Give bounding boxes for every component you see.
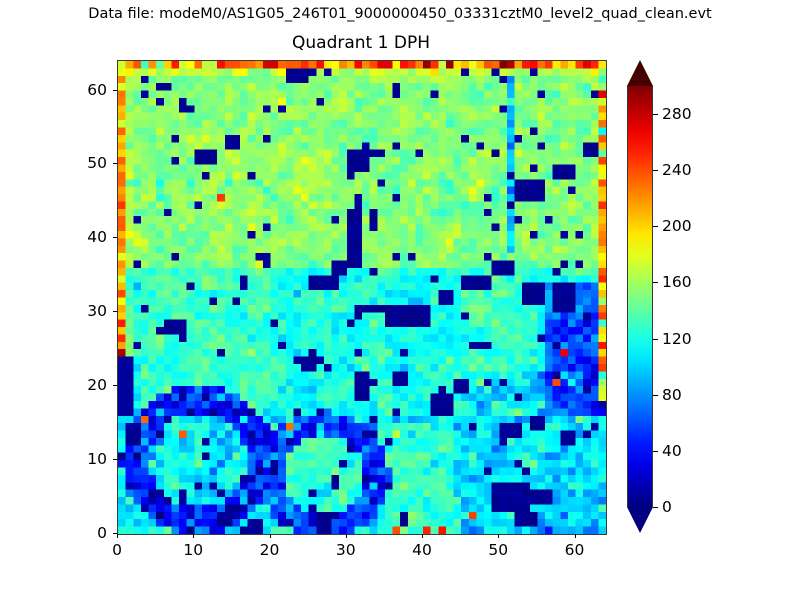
y-tick-label: 30 <box>69 302 107 320</box>
colorbar-tick-mark <box>653 339 658 340</box>
y-tick-mark <box>113 90 117 91</box>
data-file-label: Data file: modeM0/AS1G05_246T01_90000004… <box>0 6 800 22</box>
colorbar-tick-mark <box>653 170 658 171</box>
detector-pixel-map[interactable] <box>118 61 606 534</box>
colorbar-tick-label: 160 <box>662 273 692 291</box>
x-tick-mark <box>270 534 271 538</box>
colorbar-tick-label: 40 <box>662 442 682 460</box>
colorbar-tick-label: 200 <box>662 217 692 235</box>
y-tick-mark <box>113 311 117 312</box>
x-tick-mark <box>193 534 194 538</box>
colorbar-tick-mark <box>653 282 658 283</box>
x-tick-mark <box>498 534 499 538</box>
y-tick-mark <box>113 385 117 386</box>
colorbar-tick-mark <box>653 114 658 115</box>
colorbar-tick-mark <box>653 395 658 396</box>
y-tick-mark <box>113 163 117 164</box>
colorbar-extend-min-arrow-icon <box>627 507 653 533</box>
colorbar-extend-max-arrow-icon <box>627 60 653 86</box>
y-tick-label: 20 <box>69 376 107 394</box>
x-tick-label: 30 <box>336 541 356 559</box>
plot-title: Quadrant 1 DPH <box>117 33 605 53</box>
figure-canvas: Data file: modeM0/AS1G05_246T01_90000004… <box>0 0 800 600</box>
x-tick-mark <box>346 534 347 538</box>
x-tick-label: 60 <box>565 541 585 559</box>
colorbar-tick-mark <box>653 226 658 227</box>
colorbar-gradient[interactable] <box>627 86 653 507</box>
x-tick-label: 50 <box>488 541 508 559</box>
colorbar-tick-mark <box>653 451 658 452</box>
y-tick-label: 40 <box>69 228 107 246</box>
y-tick-label: 60 <box>69 81 107 99</box>
colorbar-tick-label: 0 <box>662 498 672 516</box>
y-tick-label: 0 <box>69 524 107 542</box>
colorbar-tick-label: 80 <box>662 386 682 404</box>
y-tick-label: 10 <box>69 450 107 468</box>
x-tick-label: 10 <box>183 541 203 559</box>
x-tick-label: 40 <box>412 541 432 559</box>
colorbar-tick-label: 120 <box>662 330 692 348</box>
x-tick-mark <box>575 534 576 538</box>
y-tick-label: 50 <box>69 154 107 172</box>
x-tick-mark <box>117 534 118 538</box>
heatmap-axes[interactable] <box>117 60 607 535</box>
x-tick-mark <box>422 534 423 538</box>
colorbar[interactable] <box>627 60 653 533</box>
colorbar-tick-label: 280 <box>662 105 692 123</box>
x-tick-label: 20 <box>260 541 280 559</box>
x-tick-label: 0 <box>112 541 122 559</box>
y-tick-mark <box>113 459 117 460</box>
y-tick-mark <box>113 237 117 238</box>
colorbar-tick-mark <box>653 507 658 508</box>
colorbar-tick-label: 240 <box>662 161 692 179</box>
y-tick-mark <box>113 533 117 534</box>
